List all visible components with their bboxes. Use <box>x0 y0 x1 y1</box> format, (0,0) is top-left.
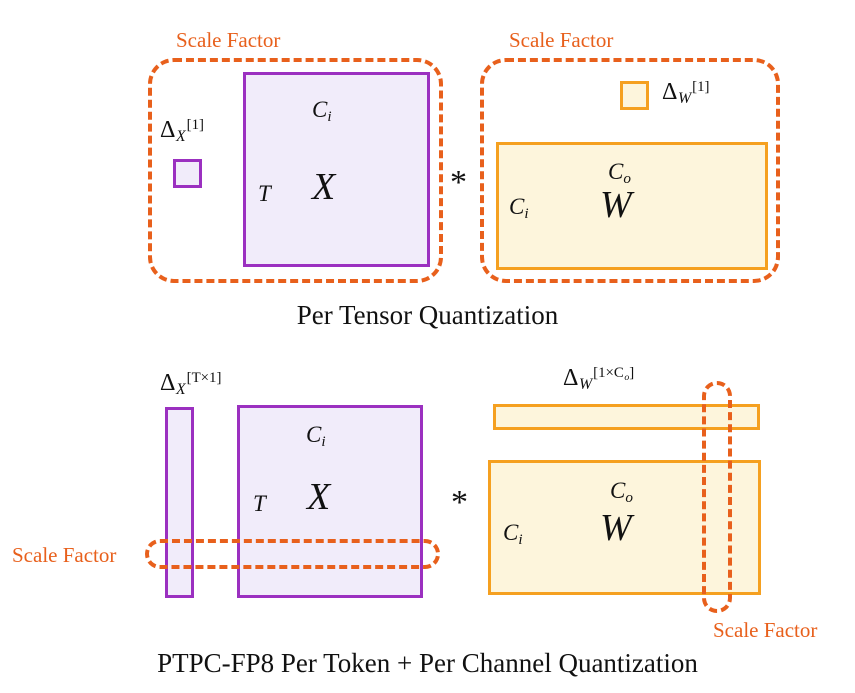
top-activation-delta-label: ΔX[1] <box>160 118 204 145</box>
top-weight-delta-subscript: W <box>677 90 691 107</box>
top-activation-delta-superscript: [1] <box>186 117 204 133</box>
bottom-multiply-operator: * <box>451 486 468 520</box>
bottom-activation-scale-column <box>165 407 194 598</box>
bottom-activation-delta-label: ΔX[T×1] <box>160 371 221 398</box>
top-weight-tensor-box <box>496 142 768 270</box>
bottom-activation-row-dim: T <box>253 492 266 515</box>
top-multiply-operator: * <box>450 166 467 200</box>
bottom-right-scale-factor-label: Scale Factor <box>713 620 817 641</box>
top-weight-delta-label: ΔW[1] <box>662 80 709 107</box>
bottom-weight-matrix-name: W <box>600 509 632 547</box>
bottom-weight-col-dim: Co <box>610 479 633 505</box>
top-weight-row-dim: Ci <box>509 195 529 221</box>
top-weight-delta-symbol: Δ <box>662 79 677 105</box>
bottom-weight-delta-subscript: W <box>578 376 592 393</box>
bottom-activation-col-dim: Ci <box>306 423 326 449</box>
bottom-weight-delta-label: ΔW[1×Co] <box>563 366 634 393</box>
bottom-weight-delta-superscript: [1×Co] <box>592 365 634 381</box>
bottom-weight-row-dim: Ci <box>503 521 523 547</box>
top-activation-tensor-box <box>243 72 430 267</box>
top-caption: Per Tensor Quantization <box>0 302 855 329</box>
top-activation-scale-square <box>173 159 202 188</box>
top-activation-col-dim: Ci <box>312 98 332 124</box>
bottom-activation-delta-subscript: X <box>175 381 185 398</box>
bottom-activation-delta-superscript: [T×1] <box>186 370 222 386</box>
bottom-caption: PTPC-FP8 Per Token + Per Channel Quantiz… <box>0 650 855 677</box>
bottom-weight-scale-row <box>493 404 760 430</box>
top-activation-delta-subscript: X <box>175 128 185 145</box>
top-weight-matrix-name: W <box>600 186 632 224</box>
top-weight-scale-square <box>620 81 649 110</box>
bottom-left-scale-factor-label: Scale Factor <box>12 545 116 566</box>
top-activation-row-dim: T <box>258 182 271 205</box>
bottom-activation-delta-symbol: Δ <box>160 370 175 396</box>
top-left-scale-factor-label: Scale Factor <box>176 30 280 51</box>
top-right-scale-factor-label: Scale Factor <box>509 30 613 51</box>
top-weight-delta-superscript: [1] <box>691 79 709 95</box>
bottom-activation-matrix-name: X <box>307 478 330 516</box>
bottom-weight-delta-symbol: Δ <box>563 365 578 391</box>
top-activation-delta-symbol: Δ <box>160 117 175 143</box>
quantization-diagram: Scale Factor ΔX[1] Ci T X * Scale Factor… <box>0 0 855 693</box>
top-activation-matrix-name: X <box>312 168 335 206</box>
top-weight-col-dim: Co <box>608 160 631 186</box>
